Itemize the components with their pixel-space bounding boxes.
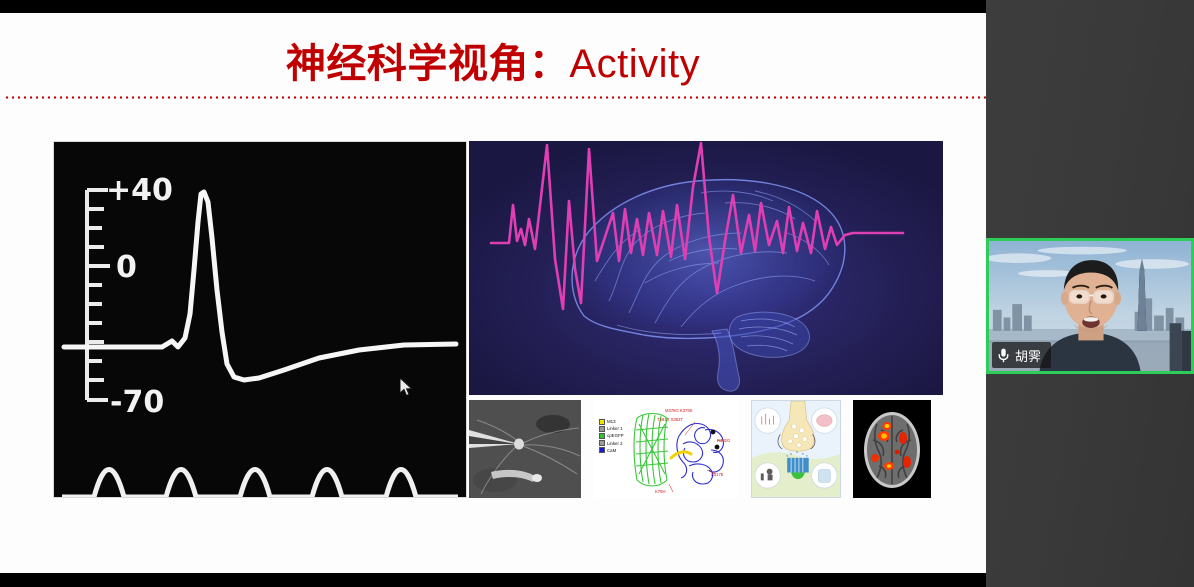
- mutation-label: A317E: [711, 472, 724, 477]
- gcamp-legend: M13 Linker 1 cpEGFP Linker 2: [599, 418, 624, 454]
- legend-item: cpEGFP: [599, 432, 624, 439]
- panel-synapse-schematic: [751, 400, 841, 498]
- legend-item: M13: [599, 418, 624, 425]
- mutation-label: R392G: [717, 438, 730, 443]
- letterbox-bottom: [0, 573, 986, 587]
- action-potential-svg: +40 0 -70: [54, 142, 466, 497]
- title-divider-dotted: [4, 96, 986, 99]
- legend-item: Linker 2: [599, 440, 624, 447]
- synapse-schematic-svg: [752, 401, 840, 497]
- slide-title-latin: Activity: [569, 42, 700, 86]
- slide-title: 神经科学视角：Activity: [0, 39, 986, 89]
- legend-swatch-cam: [599, 447, 605, 453]
- figure-brain-eeg: [469, 141, 943, 395]
- mutation-label: T381R S383T: [657, 417, 683, 422]
- svg-text:-70: -70: [110, 385, 164, 420]
- legend-swatch-cpegfp: [599, 433, 605, 439]
- fmri-svg: [853, 400, 931, 498]
- figure-strip: M13 Linker 1 cpEGFP Linker 2: [469, 400, 943, 498]
- panel-patch-clamp-micrograph: [469, 400, 581, 498]
- svg-text:0: 0: [116, 250, 137, 285]
- legend-swatch-linker1: [599, 426, 605, 432]
- panel-gcamp-structure: M13 Linker 1 cpEGFP Linker 2: [593, 400, 739, 498]
- panel-fmri-activation: [853, 400, 931, 498]
- figure-action-potential: +40 0 -70: [53, 141, 467, 498]
- participant-rail[interactable]: 胡霁: [986, 0, 1194, 587]
- slide-title-colon: ：: [529, 42, 570, 86]
- mutation-label: K78H: [655, 489, 665, 494]
- microphone-icon: [998, 348, 1009, 363]
- legend-label: M13: [607, 418, 616, 425]
- shared-content-region[interactable]: 神经科学视角：Activity: [0, 0, 986, 587]
- brain-eeg-svg: [469, 141, 943, 395]
- legend-label: Linker 1: [607, 425, 623, 432]
- legend-swatch-m13: [599, 419, 605, 425]
- slide-title-cjk: 神经科学视角: [286, 42, 529, 86]
- participant-video-tile[interactable]: 胡霁: [986, 238, 1194, 374]
- legend-label: cpEGFP: [607, 432, 624, 439]
- legend-label: CaM: [607, 447, 616, 454]
- letterbox-top: [0, 0, 986, 13]
- legend-label: Linker 2: [607, 440, 623, 447]
- screen-share-window: 神经科学视角：Activity: [0, 0, 1194, 587]
- participant-name: 胡霁: [1015, 346, 1041, 365]
- mutation-label: M378G K379S: [665, 408, 692, 413]
- participant-name-badge: 胡霁: [992, 342, 1051, 368]
- svg-text:+40: +40: [106, 173, 173, 208]
- legend-item: CaM: [599, 447, 624, 454]
- legend-item: Linker 1: [599, 425, 624, 432]
- patch-clamp-svg: [469, 400, 581, 498]
- legend-swatch-linker2: [599, 440, 605, 446]
- presentation-slide: 神经科学视角：Activity: [0, 13, 986, 573]
